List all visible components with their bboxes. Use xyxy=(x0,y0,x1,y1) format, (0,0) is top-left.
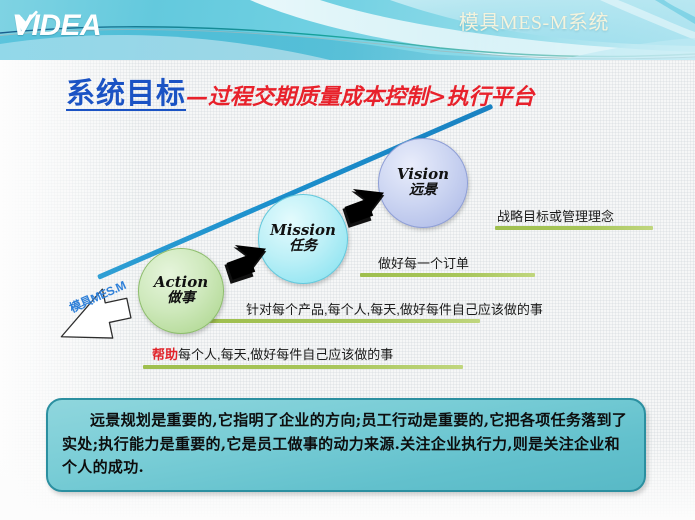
page-title-main: 系统目标 xyxy=(66,78,186,111)
note-strategy: 战略目标或管理理念 xyxy=(497,206,614,227)
circle-action-cn: 做事 xyxy=(167,291,195,306)
circle-vision-en: Vision xyxy=(397,167,449,183)
circle-mission-cn: 任务 xyxy=(289,239,317,254)
arrow-action-to-mission-icon xyxy=(218,228,276,291)
header-title: 模具MES-M系统 xyxy=(459,6,609,35)
circle-action-en: Action xyxy=(154,275,208,291)
quote-box: 远景规划是重要的,它指明了企业的方向;员工行动是重要的,它把各项任务落到了实处;… xyxy=(46,398,646,492)
note-order: 做好每一个订单 xyxy=(378,253,469,274)
slide-canvas: VIDEA 模具MES-M系统 系统目标 —过程交期质量成本控制>执行平台 模具… xyxy=(0,0,695,520)
note-help-text: 每个人,每天,做好每件自己应该做的事 xyxy=(178,347,393,362)
note-product: 针对每个产品,每个人,每天,做好每件自己应该做的事 xyxy=(246,299,543,320)
page-title: 系统目标 —过程交期质量成本控制>执行平台 xyxy=(66,78,534,111)
circle-action[interactable]: Action 做事 xyxy=(138,248,224,334)
circle-vision-cn: 远景 xyxy=(409,183,437,198)
note-help: 帮助每个人,每天,做好每件自己应该做的事 xyxy=(152,344,393,365)
circle-mission-en: Mission xyxy=(270,223,336,239)
arrow-mission-to-vision-icon xyxy=(336,172,394,235)
header-banner: VIDEA 模具MES-M系统 xyxy=(0,0,695,60)
videa-logo: VIDEA xyxy=(14,9,101,43)
note-help-underline xyxy=(143,365,463,369)
note-help-prefix: 帮助 xyxy=(152,347,178,362)
page-title-subtitle: —过程交期质量成本控制>执行平台 xyxy=(186,86,534,111)
quote-text: 远景规划是重要的,它指明了企业的方向;员工行动是重要的,它把各项任务落到了实处;… xyxy=(62,409,630,480)
